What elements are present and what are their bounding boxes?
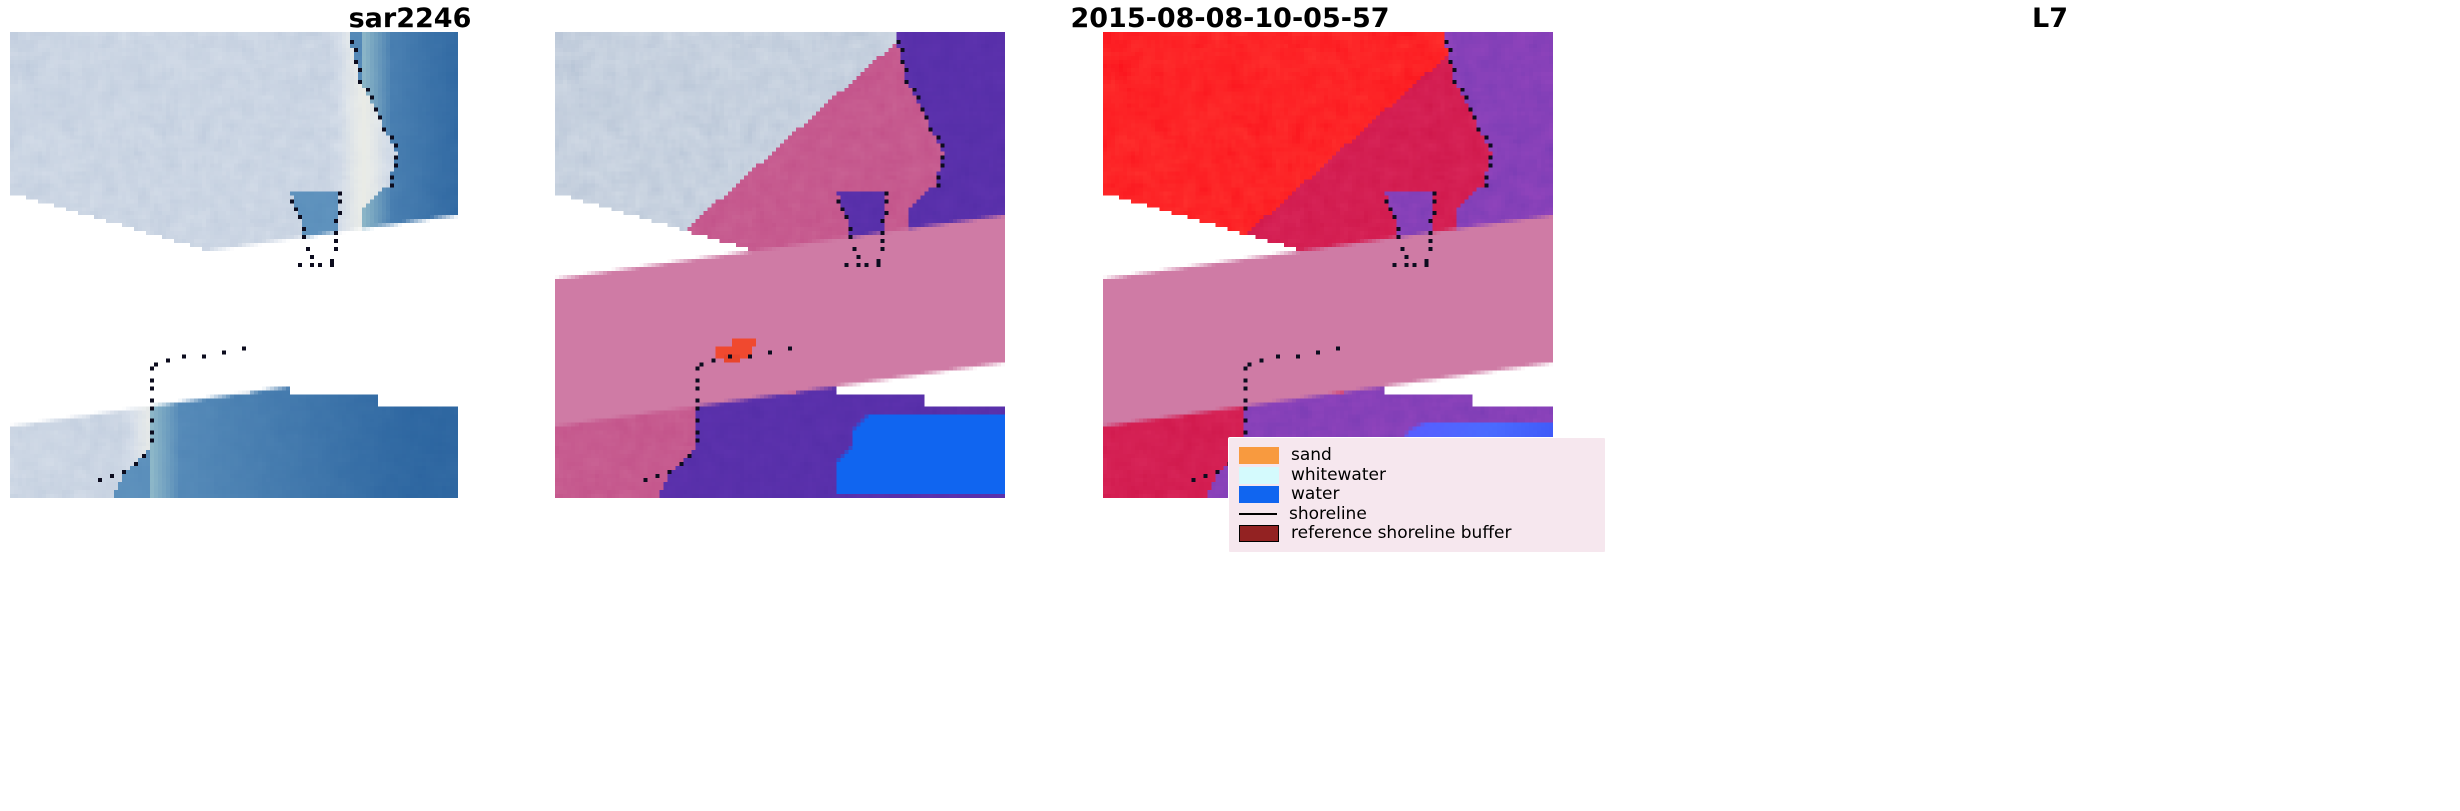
panel-title-date: 2015-08-08-10-05-57 bbox=[820, 4, 1640, 34]
legend-line-shoreline bbox=[1239, 507, 1277, 522]
figure-canvas: sar2246 2015-08-08-10-05-57 L7 sand bbox=[0, 0, 2460, 811]
legend-swatch-sand bbox=[1239, 447, 1279, 464]
legend: sand whitewater water shoreline referenc… bbox=[1228, 437, 1606, 553]
satellite-raster-sar2246 bbox=[10, 32, 458, 502]
legend-item-water: water bbox=[1239, 485, 1595, 505]
legend-item-whitewater: whitewater bbox=[1239, 466, 1595, 486]
image-axes-sar2246 bbox=[10, 32, 458, 502]
image-axes-l7 bbox=[1103, 32, 1553, 502]
panel-l7: L7 bbox=[1640, 0, 2460, 811]
legend-swatch-whitewater bbox=[1239, 467, 1279, 484]
legend-item-reference-buffer: reference shoreline buffer bbox=[1239, 524, 1595, 544]
classified-raster bbox=[555, 32, 1005, 502]
legend-label-shoreline: shoreline bbox=[1289, 505, 1367, 524]
panel-title-l7: L7 bbox=[1640, 4, 2460, 34]
legend-label-reference-buffer: reference shoreline buffer bbox=[1291, 524, 1512, 543]
image-axes-classified bbox=[555, 32, 1005, 502]
legend-label-water: water bbox=[1291, 485, 1339, 504]
legend-item-sand: sand bbox=[1239, 446, 1595, 466]
legend-swatch-water bbox=[1239, 486, 1279, 503]
legend-label-whitewater: whitewater bbox=[1291, 466, 1386, 485]
legend-label-sand: sand bbox=[1291, 446, 1332, 465]
legend-swatch-reference-buffer bbox=[1239, 525, 1279, 542]
panel-title-sar2246: sar2246 bbox=[0, 4, 820, 34]
l7-raster bbox=[1103, 32, 1553, 502]
legend-item-shoreline: shoreline bbox=[1239, 505, 1595, 525]
